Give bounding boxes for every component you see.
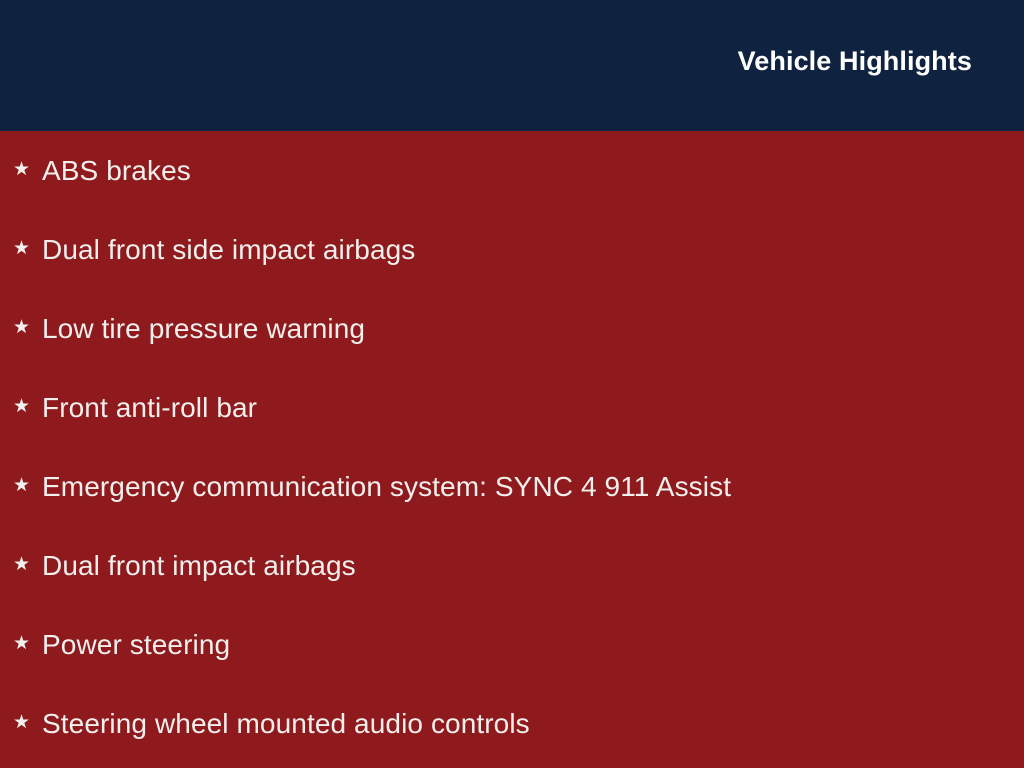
slide-header: Vehicle Highlights bbox=[0, 0, 1024, 131]
star-icon: ★ bbox=[13, 397, 42, 416]
star-icon: ★ bbox=[13, 476, 42, 495]
highlight-label: ABS brakes bbox=[42, 154, 1024, 188]
list-item: ★ Dual front side impact airbags bbox=[0, 210, 1024, 289]
highlight-label: Dual front impact airbags bbox=[42, 549, 1024, 583]
star-icon: ★ bbox=[13, 713, 42, 732]
list-item: ★ ABS brakes bbox=[0, 131, 1024, 210]
list-item: ★ Dual front impact airbags bbox=[0, 526, 1024, 605]
list-item: ★ Front anti-roll bar bbox=[0, 368, 1024, 447]
star-icon: ★ bbox=[13, 160, 42, 179]
star-icon: ★ bbox=[13, 634, 42, 653]
list-item: ★ Emergency communication system: SYNC 4… bbox=[0, 447, 1024, 526]
highlight-label: Power steering bbox=[42, 628, 1024, 662]
highlights-list: ★ ABS brakes ★ Dual front side impact ai… bbox=[0, 131, 1024, 763]
highlight-label: Front anti-roll bar bbox=[42, 391, 1024, 425]
list-item: ★ Steering wheel mounted audio controls bbox=[0, 684, 1024, 763]
highlights-section: ★ ABS brakes ★ Dual front side impact ai… bbox=[0, 131, 1024, 768]
highlight-label: Steering wheel mounted audio controls bbox=[42, 707, 1024, 741]
page-title: Vehicle Highlights bbox=[738, 46, 972, 77]
star-icon: ★ bbox=[13, 239, 42, 258]
list-item: ★ Power steering bbox=[0, 605, 1024, 684]
highlight-label: Dual front side impact airbags bbox=[42, 233, 1024, 267]
star-icon: ★ bbox=[13, 318, 42, 337]
star-icon: ★ bbox=[13, 555, 42, 574]
vehicle-highlights-slide: Vehicle Highlights ★ ABS brakes ★ Dual f… bbox=[0, 0, 1024, 768]
list-item: ★ Low tire pressure warning bbox=[0, 289, 1024, 368]
highlight-label: Low tire pressure warning bbox=[42, 312, 1024, 346]
highlight-label: Emergency communication system: SYNC 4 9… bbox=[42, 470, 1024, 504]
